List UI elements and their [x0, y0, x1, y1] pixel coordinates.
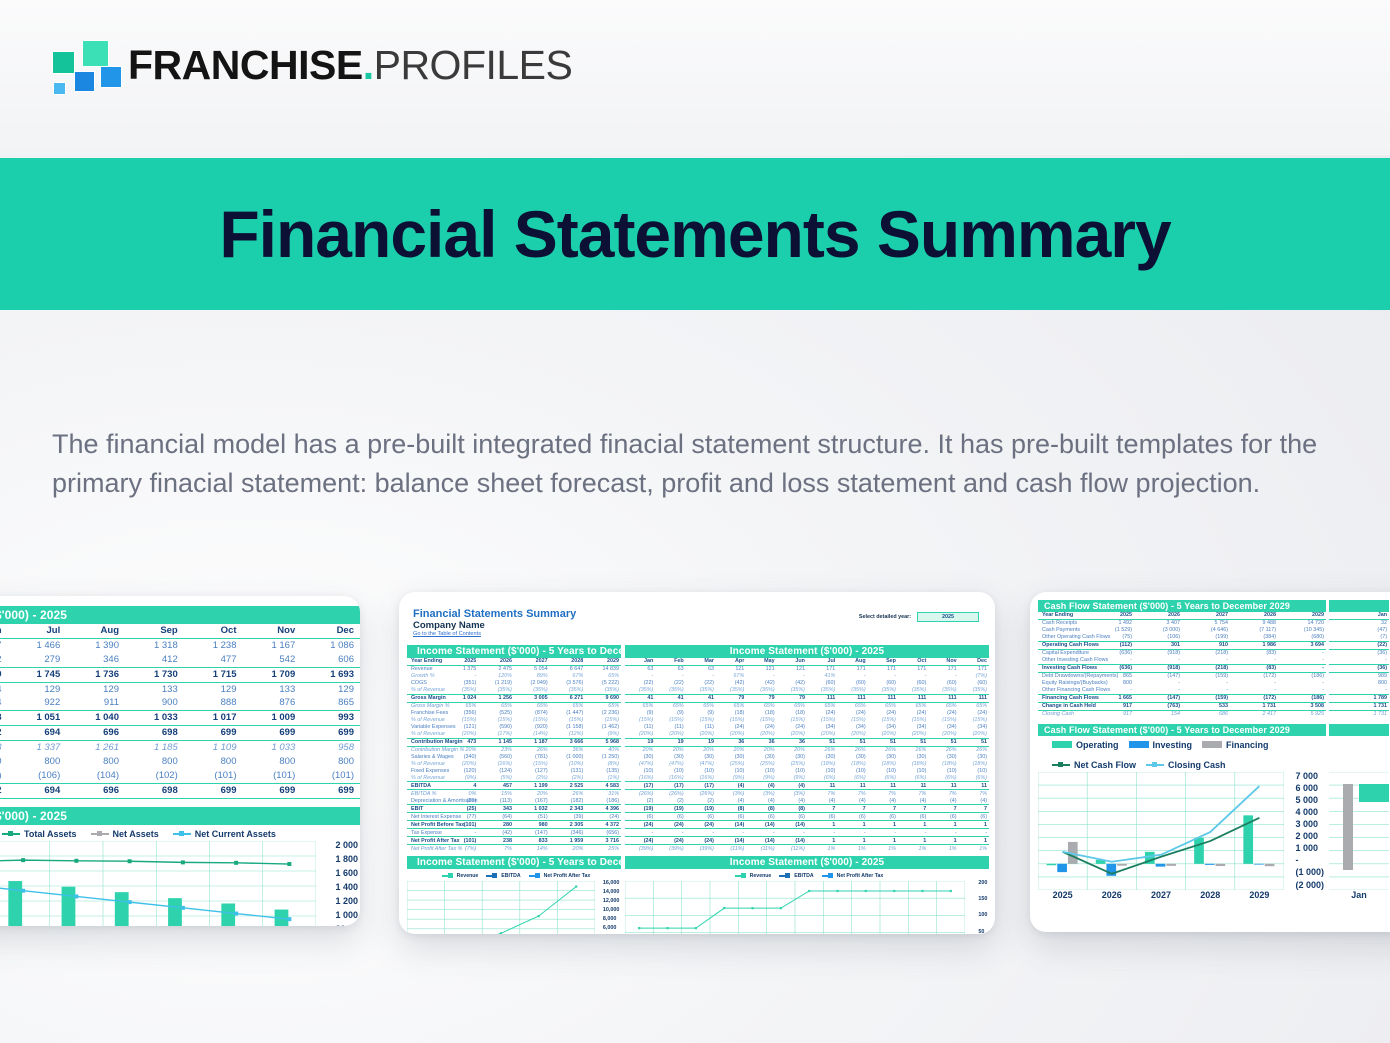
table-cell: (104)	[66, 769, 125, 783]
table-cell: 5 754	[1182, 619, 1230, 626]
table-cell: 26%	[550, 790, 586, 797]
table-cell: -	[807, 829, 837, 837]
table-cell: (24)	[837, 710, 867, 717]
table-cell: 65%	[807, 702, 837, 709]
table-row: 703692694696698699699699	[0, 783, 360, 798]
legend-swatch	[529, 875, 540, 877]
chart-svg	[407, 881, 595, 934]
table-cell: (16%)	[655, 775, 685, 782]
table-cell: 1	[837, 837, 867, 845]
table-cell: (4)	[777, 797, 807, 804]
table-cell: 63	[625, 665, 655, 672]
table-cell: 7	[868, 805, 898, 813]
table-cell: 65%	[777, 702, 807, 709]
table-row: Other Operating Cash Flows(75)(106)(199)…	[1038, 634, 1326, 641]
table-cell: (11)	[625, 724, 655, 731]
legend-label: Net Assets	[113, 829, 159, 839]
table-cell: (22)	[625, 680, 655, 687]
table-cell: 79	[746, 694, 776, 702]
table-cell: -	[443, 673, 479, 680]
legend-swatch	[1052, 764, 1070, 766]
table-cell: (2)	[655, 797, 685, 804]
legend-item: EBITDA	[779, 873, 813, 879]
table-row: Equity Raisings/(Buybacks)800----	[1038, 680, 1326, 687]
table-cell: 23%	[478, 746, 514, 753]
table-cell: 699	[301, 783, 360, 798]
table-cell: -	[1278, 657, 1326, 664]
table-cell: (20%)	[443, 761, 479, 768]
chart-bar	[1166, 863, 1176, 865]
table-cell: (3 576)	[550, 680, 586, 687]
chart-marker	[287, 862, 291, 866]
chart-bar	[115, 892, 129, 926]
table-cell: 1 715	[184, 667, 243, 682]
table-cell: 89%	[514, 673, 550, 680]
chart-bar	[1194, 837, 1204, 863]
chart-bar	[1057, 863, 1067, 871]
table-cell: (35%)	[585, 687, 621, 694]
table-cell: Franchise Fees	[407, 710, 443, 717]
table-cell: 1 730	[125, 667, 184, 682]
table-cell: (17)	[686, 782, 716, 790]
table-cell: (24)	[898, 710, 928, 717]
select-year-label: Select detailed year:	[859, 614, 911, 620]
table-cell: (30)	[807, 754, 837, 761]
table-row: Franchise Fees(356)(525)(874)(1 447)(2 2…	[407, 710, 621, 717]
table-row: (16%)(16%)(16%)(9%)(9%)(9%)(6%)(6%)(6%)(…	[625, 775, 989, 782]
table-cell: 65%	[585, 673, 621, 680]
table-cell: 7	[898, 805, 928, 813]
y-tick-label: 6,000	[603, 926, 620, 931]
center-monthly-table: JanFebMarAprMayJunJulAugSepOctNovDec6363…	[625, 658, 989, 852]
table-cell: 800	[66, 755, 125, 769]
table-cell: (47%)	[625, 761, 655, 768]
select-year-dropdown[interactable]: 2025	[917, 612, 979, 622]
table-cell: Cash Receipts	[1038, 619, 1086, 626]
cash-flow-jan-chart	[1329, 772, 1389, 890]
table-cell: (6%)	[898, 775, 928, 782]
table-row: Change in Cash Held917(763)5331 7313 508	[1038, 702, 1326, 710]
table-row: (26%)(26%)(26%)(3%)(3%)(3%)7%7%7%7%7%7%	[625, 790, 989, 797]
table-cell: (10)	[716, 768, 746, 775]
table-cell: Jun	[777, 658, 807, 665]
table-cell: 65%	[585, 702, 621, 709]
table-of-contents-link[interactable]: Go to the Table of Contents	[413, 631, 981, 637]
financial-statements-summary-card[interactable]: Financial Statements Summary Company Nam…	[399, 592, 995, 934]
cash-flow-chart: 7 0006 0005 0004 0003 0002 0001 000-(1 0…	[1038, 772, 1284, 890]
legend-swatch	[442, 875, 453, 877]
table-cell: (6)	[686, 813, 716, 821]
table-cell: Other Financing Cash Flows	[1038, 687, 1086, 694]
table-cell: (25)	[443, 805, 479, 813]
table-cell: Oct	[184, 624, 243, 638]
table-cell: (918)	[1134, 664, 1182, 672]
table-cell: 7%	[868, 790, 898, 797]
y-tick-label: 3 000	[1295, 820, 1324, 829]
table-cell: -	[1182, 657, 1230, 664]
table-cell: 346	[66, 653, 125, 667]
balance-sheet-card[interactable]: Balance Sheet ($'000) - 2025 MayJunJulAu…	[0, 596, 360, 926]
table-cell: (24)	[959, 710, 989, 717]
table-cell: 65%	[837, 702, 867, 709]
chart-bar	[168, 898, 182, 926]
table-cell: Other Investing Cash Flows	[1038, 657, 1086, 664]
chart-svg	[1038, 772, 1284, 890]
table-cell: (25%)	[777, 761, 807, 768]
table-cell: (4)	[898, 797, 928, 804]
table-cell: (35%)	[868, 687, 898, 694]
table-cell: (14)	[746, 821, 776, 829]
table-cell: (16%)	[686, 775, 716, 782]
table-cell: 25%	[585, 845, 621, 852]
table-row: 636363121121121171171171171171171	[625, 665, 989, 672]
table-cell: (186)	[1278, 694, 1326, 702]
table-cell: (34)	[807, 724, 837, 731]
table-cell: COGS	[407, 680, 443, 687]
table-cell: (24)	[686, 837, 716, 845]
table-cell: 11	[868, 782, 898, 790]
table-cell: (20%)	[898, 731, 928, 738]
chart-svg	[625, 881, 965, 934]
chart-bar	[1117, 863, 1127, 865]
table-cell: 1 986	[1230, 641, 1278, 649]
table-cell: (3%)	[746, 790, 776, 797]
chart-marker	[695, 927, 697, 929]
table-cell: (15%)	[655, 717, 685, 724]
table-row: Gross Margin %65%65%65%65%65%	[407, 702, 621, 709]
table-cell: Capital Expenditure	[1038, 649, 1086, 656]
center-monthly-title: Income Statement ($'000) - 2025	[625, 645, 989, 658]
table-cell: 36	[716, 738, 746, 746]
chart-marker	[234, 911, 238, 915]
table-cell: (42)	[478, 829, 514, 837]
table-row: (97)(108)(106)(104)(102)(101)(101)(101)	[0, 769, 360, 783]
table-row: 32	[1329, 619, 1389, 626]
table-cell: 412	[125, 653, 184, 667]
table-cell: 301	[1134, 641, 1182, 649]
table-cell: 1 693	[301, 667, 360, 682]
legend-label: Revenue	[457, 873, 479, 879]
cash-flow-chart-title: Cash Flow Statement ($'000) - 5 Years to…	[1038, 724, 1326, 736]
table-cell: (18%)	[928, 761, 958, 768]
y-tick-label: 1 400	[335, 883, 358, 892]
table-cell: (18%)	[837, 761, 867, 768]
table-cell: Apr	[716, 658, 746, 665]
table-cell: (10)	[807, 768, 837, 775]
table-cell: Gross Margin	[407, 694, 443, 702]
table-cell: (15%)	[777, 717, 807, 724]
table-cell: Operating Cash Flows	[1038, 641, 1086, 649]
table-cell: 65%	[928, 702, 958, 709]
table-cell: 5 968	[585, 738, 621, 746]
table-cell: -	[837, 829, 867, 837]
table-cell: (9)	[686, 710, 716, 717]
table-cell: (15%)	[746, 717, 776, 724]
x-tick-label: 2026	[1087, 890, 1136, 900]
table-cell: (11)	[686, 724, 716, 731]
table-cell: 1	[959, 821, 989, 829]
table-cell: 606	[301, 653, 360, 667]
table-row: Investing Cash Flows(636)(918)(218)(83)-	[1038, 664, 1326, 672]
table-cell: (7)	[1329, 634, 1389, 641]
table-cell: 1%	[837, 845, 867, 852]
center-five-year-chart-legend: RevenueEBITDANet Profit After Tax	[407, 869, 621, 881]
table-cell: (24)	[807, 710, 837, 717]
cash-flow-card[interactable]: Cash Flow Statement ($'000) - 5 Years to…	[1030, 592, 1390, 932]
table-cell: 1 745	[8, 667, 67, 682]
table-row: Growth %-120%89%67%65%	[407, 673, 621, 680]
table-cell: 7	[837, 805, 867, 813]
table-cell: -	[1182, 680, 1230, 687]
table-cell: (18%)	[959, 761, 989, 768]
table-cell: (42)	[777, 680, 807, 687]
table-cell: (11%)	[777, 845, 807, 852]
table-cell: (4)	[868, 797, 898, 804]
table-cell: (918)	[1134, 649, 1182, 656]
table-cell: (182)	[550, 797, 586, 804]
table-cell: 111	[868, 694, 898, 702]
table-cell: -	[746, 829, 776, 837]
table-row: Fixed Expenses(120)(124)(127)(131)(135)	[407, 768, 621, 775]
chart-bar	[1156, 863, 1166, 866]
table-cell: (19)	[655, 805, 685, 813]
table-cell: 1 109	[184, 741, 243, 755]
table-cell: (218)	[1182, 664, 1230, 672]
chart-y-axis: 7 0006 0005 0004 0003 0002 0001 000-(1 0…	[1295, 772, 1324, 890]
table-cell: (16%)	[625, 775, 655, 782]
table-cell: (9%)	[746, 775, 776, 782]
table-cell: (5%)	[478, 775, 514, 782]
table-cell: -	[1134, 680, 1182, 687]
table-cell: (6)	[746, 813, 776, 821]
table-cell: 1	[898, 821, 928, 829]
x-tick-label: 2025	[1038, 890, 1087, 900]
table-cell: 1 038	[0, 711, 8, 726]
table-cell: 1 199	[514, 782, 550, 790]
table-cell: (35%)	[777, 687, 807, 694]
legend-label: Investing	[1153, 740, 1193, 750]
table-cell: 9 690	[585, 694, 621, 702]
table-cell: (60)	[837, 680, 867, 687]
y-tick-label: 100	[978, 913, 988, 918]
table-cell: (24)	[655, 821, 685, 829]
table-cell: (15%)	[585, 717, 621, 724]
table-cell: (35%)	[514, 687, 550, 694]
chart-line	[0, 859, 289, 863]
table-cell: 9 488	[1230, 619, 1278, 626]
balance-sheet-chart-title: Balance Sheet ($'000) - 2025	[0, 807, 360, 825]
y-tick-label: 16,000	[603, 881, 620, 886]
legend-label: Net Cash Flow	[1074, 760, 1136, 770]
table-cell: 692	[0, 726, 8, 741]
table-cell: (6%)	[959, 775, 989, 782]
legend-swatch	[1202, 741, 1222, 748]
table-row: 800800800800800800800800	[0, 755, 360, 769]
center-monthly-chart-legend: RevenueEBITDANet Profit After Tax	[625, 869, 989, 881]
table-cell: 1 736	[66, 667, 125, 682]
table-row: % of Revenue(15%)(15%)(15%)(15%)(15%)	[407, 717, 621, 724]
table-cell: (30)	[716, 754, 746, 761]
table-cell: (525)	[478, 710, 514, 717]
table-cell: (4)	[837, 797, 867, 804]
legend-item: Net Profit After Tax	[822, 873, 884, 879]
logo-squares-icon	[46, 38, 114, 92]
table-cell: (5 222)	[585, 680, 621, 687]
table-cell: 7%	[959, 790, 989, 797]
table-cell: (127)	[514, 768, 550, 775]
table-cell: (147)	[1134, 694, 1182, 702]
table-row: (30)(30)(30)(30)(30)(30)(30)(30)(30)(30)…	[625, 754, 989, 761]
table-cell: 26%	[514, 746, 550, 753]
legend-label: Net Profit After Tax	[837, 873, 884, 879]
table-row: Cash Payments(1 529)(3 000)(4 646)(7 117…	[1038, 627, 1326, 634]
table-cell: 2026	[1134, 612, 1182, 619]
table-cell: 800	[243, 755, 302, 769]
table-cell: Growth %	[407, 673, 443, 680]
table-cell: 171	[898, 665, 928, 672]
chart-marker	[575, 886, 577, 888]
table-cell: 1 256	[478, 694, 514, 702]
table-cell: 26%	[959, 746, 989, 753]
table-cell: (35%)	[959, 687, 989, 694]
table-cell: 0%	[443, 790, 479, 797]
chart-marker	[921, 890, 923, 892]
table-cell: (22)	[1329, 641, 1389, 649]
table-cell: 800	[0, 755, 8, 769]
table-cell: -	[1134, 657, 1182, 664]
table-cell: (10)	[868, 768, 898, 775]
table-cell: (9)	[655, 710, 685, 717]
table-cell: -	[1230, 687, 1278, 694]
table-cell: (4)	[746, 782, 776, 790]
table-cell: 800	[8, 755, 67, 769]
table-cell: (25%)	[716, 761, 746, 768]
legend-item: Net Cash Flow	[1052, 760, 1136, 770]
table-cell: 11	[928, 782, 958, 790]
table-row: Cash Receipts1 4923 4075 7549 48814 720	[1038, 619, 1326, 626]
table-cell: (4)	[746, 797, 776, 804]
table-cell: (11)	[655, 724, 685, 731]
table-cell: (15%)	[807, 717, 837, 724]
table-cell: 1 017	[184, 711, 243, 726]
table-cell: (36)	[1329, 664, 1389, 672]
table-cell: 2027	[514, 658, 550, 665]
table-row: EBIT(25)3431 0322 3434 396	[407, 805, 621, 813]
center-five-year-title: Income Statement ($'000) - 5 Years to De…	[407, 645, 621, 658]
table-cell: 65%	[514, 702, 550, 709]
table-cell: -	[1278, 687, 1326, 694]
table-cell: (64)	[478, 813, 514, 821]
legend-label: Net Profit After Tax	[544, 873, 591, 879]
table-cell: -	[686, 673, 716, 680]
table-cell: 1 033	[243, 741, 302, 755]
table-cell: 7%	[928, 790, 958, 797]
table-cell: 1	[928, 837, 958, 845]
table-cell: (102)	[125, 769, 184, 783]
table-cell: (14)	[777, 821, 807, 829]
table-cell: 51	[898, 738, 928, 746]
table-cell: 171	[868, 665, 898, 672]
y-tick-label: 2 000	[1295, 832, 1324, 841]
table-cell: 65%	[959, 702, 989, 709]
table-cell: 51	[807, 738, 837, 746]
legend-swatch	[2, 833, 20, 835]
table-row: COGS(351)(1 219)(2 049)(3 576)(5 222)	[407, 680, 621, 687]
table-cell: (35%)	[686, 687, 716, 694]
table-cell: (20%)	[777, 731, 807, 738]
x-tick-label: 2029	[1235, 890, 1284, 900]
table-cell: 989	[1329, 672, 1389, 679]
cash-flow-table-title: Cash Flow Statement ($'000) - 5 Years to…	[1038, 600, 1326, 612]
table-cell: 14 720	[1278, 619, 1326, 626]
table-cell: 121	[716, 665, 746, 672]
table-cell: (131)	[550, 768, 586, 775]
table-cell: (15%)	[928, 717, 958, 724]
table-cell: 699	[243, 783, 302, 798]
chart-marker	[181, 905, 185, 909]
brand-dot: .	[363, 42, 374, 88]
table-row: 65%65%65%65%65%65%65%65%65%65%65%65%	[625, 702, 989, 709]
chart-marker	[950, 890, 952, 892]
table-cell: 65%	[478, 702, 514, 709]
table-cell: (10)	[777, 768, 807, 775]
table-cell: 40%	[585, 746, 621, 753]
table-row: JanFebMarAprMayJunJulAugSepOctNovDec	[625, 658, 989, 665]
table-cell: 65%	[898, 702, 928, 709]
table-cell: 800	[184, 755, 243, 769]
table-cell: (35%)	[550, 687, 586, 694]
table-cell: (18)	[746, 710, 776, 717]
table-row: Capital Expenditure(636)(918)(218)(83)-	[1038, 649, 1326, 656]
table-cell: 698	[125, 783, 184, 798]
table-cell: (9%)	[777, 775, 807, 782]
table-row: Revenue1 3752 4755 0548 64714 839	[407, 665, 621, 672]
table-cell: 699	[184, 783, 243, 798]
table-cell: (17%)	[478, 731, 514, 738]
table-cell: (30)	[898, 754, 928, 761]
table-cell: (30)	[928, 754, 958, 761]
table-row: EBITDA44571 1992 5254 583	[407, 782, 621, 790]
chart-marker	[128, 900, 132, 904]
table-cell: (15%)	[868, 717, 898, 724]
legend-item: Closing Cash	[1146, 760, 1226, 770]
chart-marker	[893, 890, 895, 892]
table-cell: 171	[959, 665, 989, 672]
chart-marker	[21, 858, 25, 862]
legend-swatch	[779, 875, 790, 877]
table-cell: 171	[928, 665, 958, 672]
table-cell: 1	[807, 837, 837, 845]
table-cell: 11	[837, 782, 867, 790]
table-cell: (10)	[746, 768, 776, 775]
table-cell: 120%	[478, 673, 514, 680]
table-row: 1 7491 7291 7451 7361 7301 7151 7091 693	[0, 667, 360, 682]
table-row: (10)(10)(10)(10)(10)(10)(10)(10)(10)(10)…	[625, 768, 989, 775]
table-cell: 280	[478, 821, 514, 829]
table-cell: 63	[655, 665, 685, 672]
table-cell: 800	[301, 755, 360, 769]
y-tick-label: (1 000)	[1295, 868, 1324, 877]
table-cell: 1%	[928, 845, 958, 852]
chart-bar	[8, 881, 22, 926]
legend-swatch	[1129, 741, 1149, 748]
table-cell: (20%)	[716, 731, 746, 738]
chart-bar	[1254, 863, 1264, 864]
table-cell: 699	[301, 726, 360, 741]
table-cell: (20%)	[807, 731, 837, 738]
table-cell: 2 417	[1230, 710, 1278, 717]
chart-bar	[221, 903, 235, 926]
